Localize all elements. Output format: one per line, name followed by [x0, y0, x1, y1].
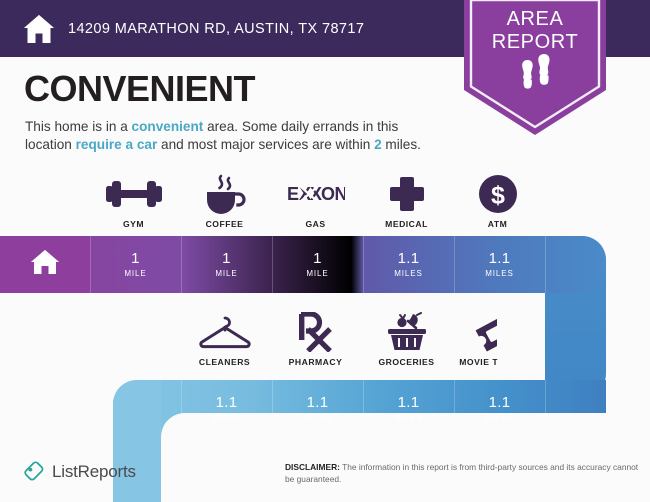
- dollar-circle-icon: $: [479, 174, 517, 214]
- area-report-infographic: 14209 MARATHON RD, AUSTIN, TX 78717 AREA…: [0, 0, 650, 502]
- intro-highlight-2: require a car: [76, 137, 158, 152]
- listreports-label: ListReports: [52, 462, 136, 482]
- amenity-coffee: COFFEE: [179, 174, 270, 229]
- amenity-label: MEDICAL: [385, 219, 428, 229]
- exxon-logo-icon: E XX ON: [287, 174, 345, 214]
- svg-text:$: $: [491, 182, 505, 210]
- property-address: 14209 MARATHON RD, AUSTIN, TX 78717: [68, 21, 364, 37]
- svg-text:E: E: [287, 184, 299, 204]
- amenity-icon-row-1: GYM COFFEE E XX ON: [0, 174, 650, 236]
- amenity-medical: MEDICAL: [361, 174, 452, 229]
- disclaimer: DISCLAIMER: The information in this repo…: [285, 462, 645, 485]
- amenity-gas: E XX ON GAS: [270, 174, 361, 229]
- intro-text-4: miles.: [382, 137, 421, 152]
- dumbbell-icon: [106, 174, 162, 214]
- listreports-logo[interactable]: ListReports: [22, 461, 136, 483]
- amenity-atm: $ ATM: [452, 174, 543, 229]
- amenity-label: ATM: [488, 219, 507, 229]
- intro-highlight-3: 2: [374, 137, 382, 152]
- amenity-label: GAS: [305, 219, 325, 229]
- intro-text-3: and most major services are within: [157, 137, 374, 152]
- svg-text:ON: ON: [321, 184, 345, 204]
- area-report-badge: AREA REPORT: [464, 0, 606, 135]
- medical-cross-icon: [389, 174, 425, 214]
- intro-highlight-1: convenient: [132, 119, 204, 134]
- intro-text-1: This home is in a: [25, 119, 132, 134]
- amenity-gym: GYM: [88, 174, 179, 229]
- house-icon: [22, 12, 56, 46]
- amenity-label: GYM: [123, 219, 144, 229]
- listreports-house-icon: [22, 461, 44, 483]
- intro-description: This home is in a convenient area. Some …: [25, 118, 445, 154]
- amenity-label: COFFEE: [206, 219, 244, 229]
- page-title: CONVENIENT: [24, 68, 255, 110]
- disclaimer-label: DISCLAIMER:: [285, 462, 340, 472]
- coffee-cup-icon: [203, 174, 247, 214]
